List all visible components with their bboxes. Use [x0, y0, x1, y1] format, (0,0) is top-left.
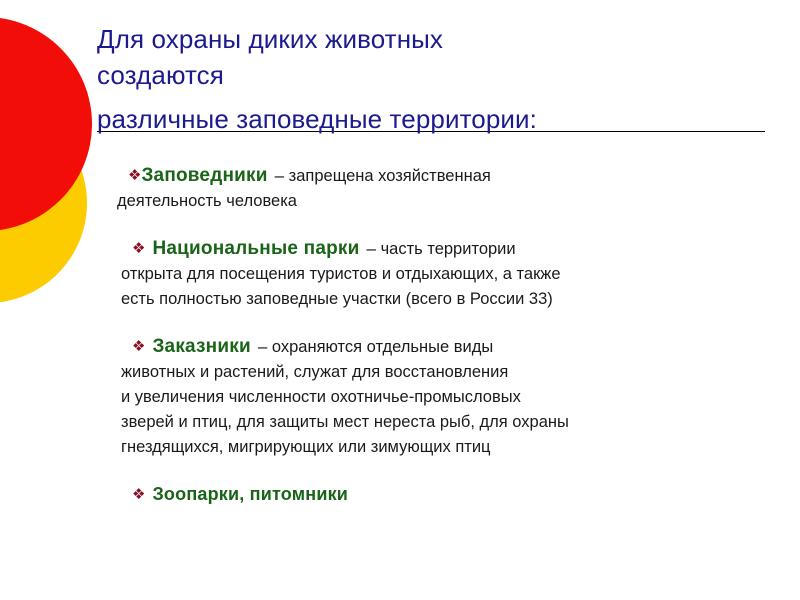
bullet-item-zooparki: ❖Зоопарки, питомники: [128, 482, 788, 508]
bullet-term: Заказники: [152, 336, 250, 357]
bullet-lead-line: ❖Заповедники– запрещена хозяйственная: [128, 163, 788, 189]
bullet-term: Национальные парки: [152, 238, 359, 259]
bullet-continuation-line: гнездящихся, мигрирующих или зимующих пт…: [121, 435, 788, 460]
bullet-tail: охраняются отдельные виды: [272, 338, 493, 356]
bullet-lead-line: ❖Национальные парки– часть территории: [128, 236, 788, 262]
decorative-yellow-circle: [0, 103, 87, 303]
bullet-continuation-line: и увеличения численности охотничье-промы…: [121, 385, 788, 410]
title-line-2: создаются: [97, 57, 773, 93]
bullet-continuation-line: животных и растений, служат для восстано…: [121, 360, 788, 385]
decorative-red-circle: [0, 17, 92, 231]
bullet-tail: запрещена хозяйственная: [289, 167, 491, 185]
title-line-3: различные заповедные территории:: [97, 101, 773, 137]
bullet-term: Заповедники: [141, 165, 267, 186]
bullet-list: ❖Заповедники– запрещена хозяйственная де…: [128, 163, 788, 522]
diamond-cluster-bullet-icon: ❖: [132, 241, 145, 256]
bullet-term: Зоопарки, питомники: [152, 484, 348, 504]
slide-title: Для охраны диких животных создаются разл…: [97, 21, 773, 137]
bullet-continuation-line: зверей и птиц, для защиты мест нереста р…: [121, 410, 788, 435]
bullet-dash: –: [367, 239, 376, 258]
bullet-dash: –: [258, 337, 267, 356]
diamond-cluster-bullet-icon: ❖: [128, 168, 141, 183]
bullet-lead-line: ❖Заказники– охраняются отдельные виды: [128, 334, 788, 360]
bullet-item-zapovedniki: ❖Заповедники– запрещена хозяйственная де…: [128, 163, 788, 214]
bullet-item-zakazniki: ❖Заказники– охраняются отдельные виды жи…: [128, 334, 788, 460]
bullet-tail: часть территории: [381, 240, 516, 258]
bullet-continuation-line: открыта для посещения туристов и отдыхаю…: [121, 262, 788, 287]
slide-canvas: Для охраны диких животных создаются разл…: [0, 0, 800, 600]
diamond-cluster-bullet-icon: ❖: [132, 339, 145, 354]
bullet-item-parki: ❖Национальные парки– часть территории от…: [128, 236, 788, 312]
bullet-lead-line: ❖Зоопарки, питомники: [128, 482, 788, 508]
diamond-cluster-bullet-icon: ❖: [132, 487, 145, 502]
bullet-continuation-line: деятельность человека: [117, 189, 788, 214]
bullet-continuation-line: есть полностью заповедные участки (всего…: [121, 287, 788, 312]
title-line-1: Для охраны диких животных: [97, 21, 773, 57]
bullet-dash: –: [275, 166, 284, 185]
